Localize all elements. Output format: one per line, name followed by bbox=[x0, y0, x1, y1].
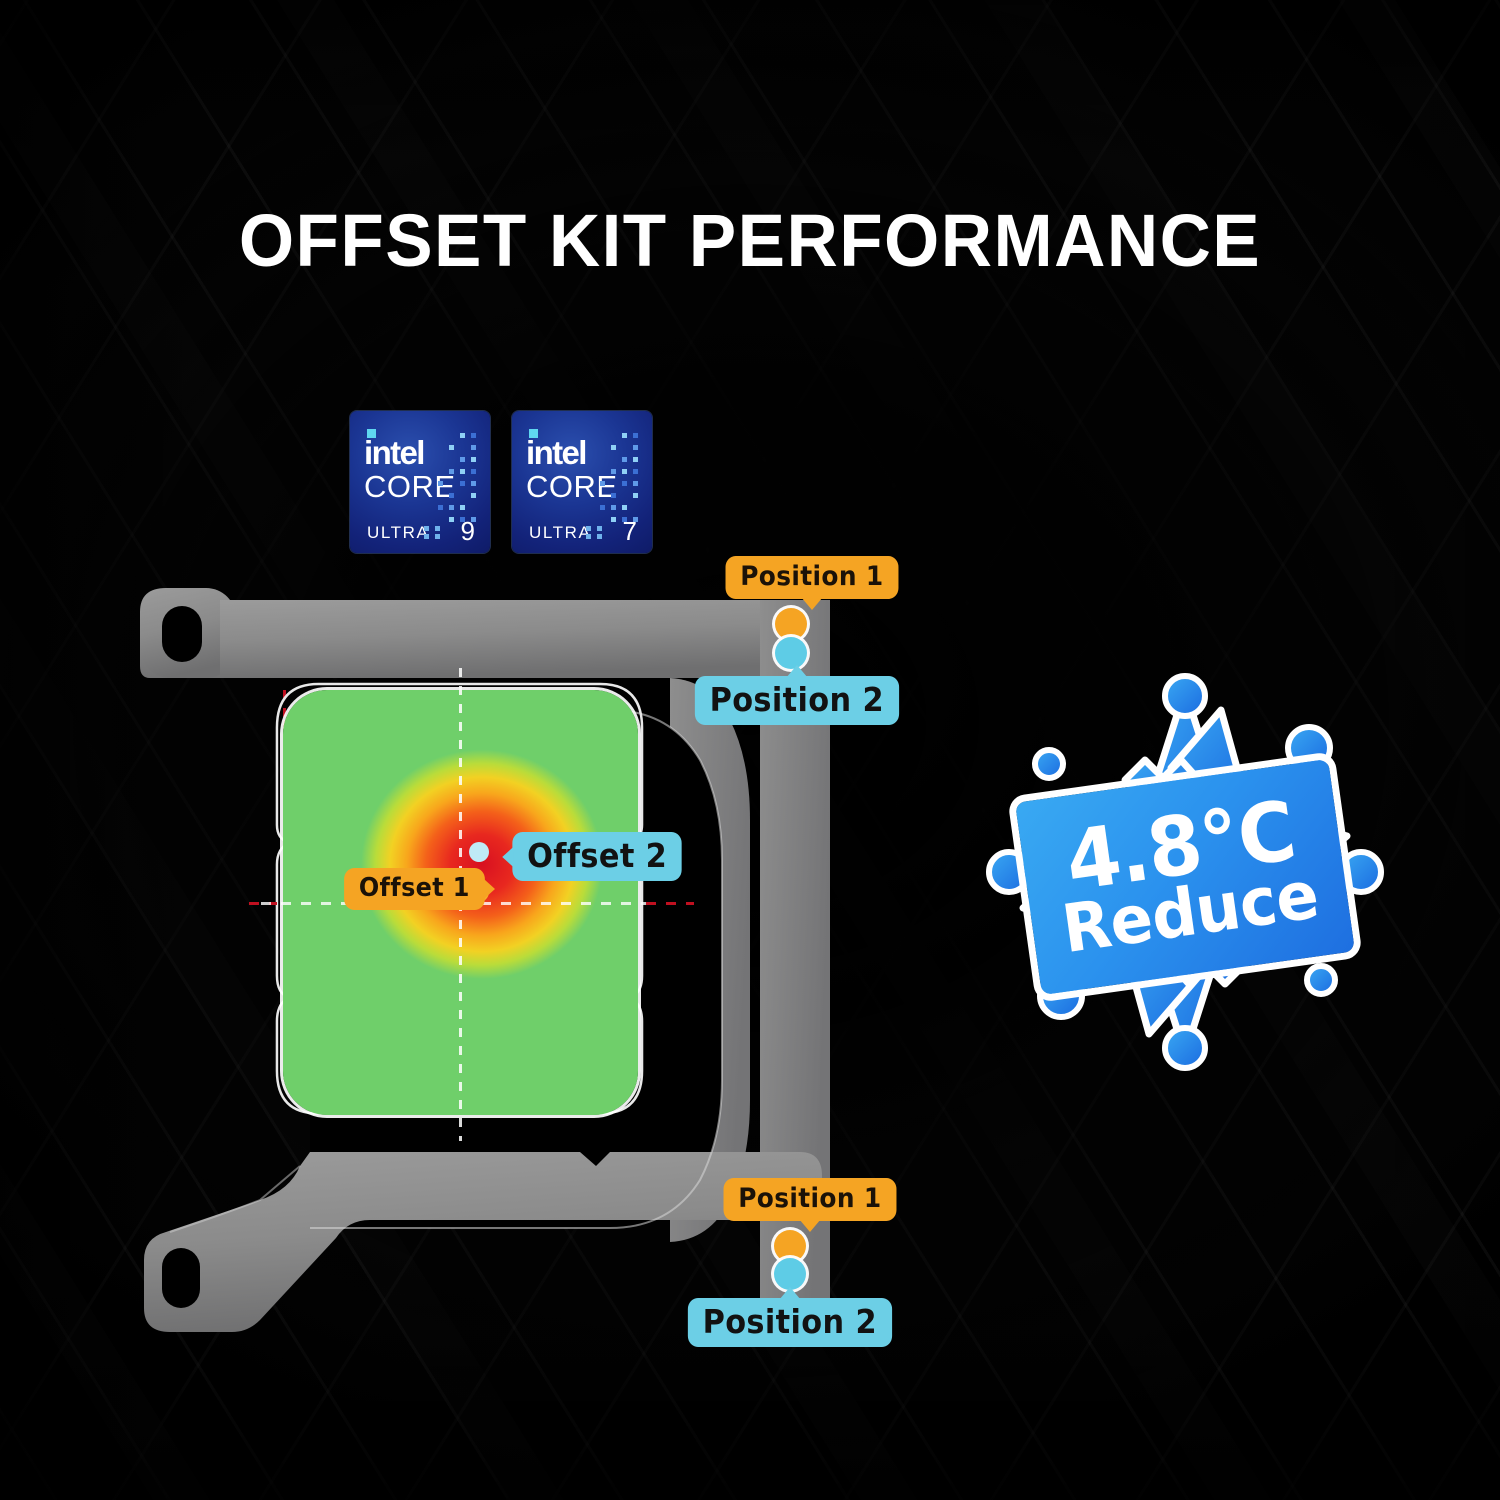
intel-badge-row: intel CORE ULTRA 9 intel CORE ULTRA 7 bbox=[350, 411, 652, 553]
callout-position-1-bottom[interactable]: Position 1 bbox=[724, 1178, 897, 1221]
page-title: OFFSET KIT PERFORMANCE bbox=[30, 198, 1470, 283]
snowflake-dot bbox=[1165, 676, 1205, 716]
crosshair-horizontal-left-red bbox=[249, 902, 277, 905]
intel-ultra-text: ULTRA bbox=[367, 524, 429, 541]
position-1-marker-top[interactable] bbox=[775, 608, 807, 640]
callout-position-2-top[interactable]: Position 2 bbox=[695, 676, 899, 725]
callout-position-2-bottom[interactable]: Position 2 bbox=[688, 1298, 892, 1347]
position-2-marker-bottom[interactable] bbox=[774, 1258, 806, 1290]
temperature-reduction-badge: 4.8°C Reduce bbox=[985, 672, 1385, 1072]
intel-wordmark: intel bbox=[364, 436, 424, 469]
product-infographic: OFFSET KIT PERFORMANCE intel CORE ULTRA … bbox=[0, 0, 1500, 1500]
intel-core-ultra-9-badge: intel CORE ULTRA 9 bbox=[350, 411, 490, 553]
intel-wordmark: intel bbox=[526, 436, 586, 469]
intel-dot-matrix bbox=[600, 433, 644, 529]
callout-offset-1[interactable]: Offset 1 bbox=[344, 868, 484, 910]
intel-core-ultra-7-badge: intel CORE ULTRA 7 bbox=[512, 411, 652, 553]
crosshair-horizontal-right-red bbox=[646, 902, 694, 905]
intel-dot-matrix bbox=[438, 433, 482, 529]
offset-2-point bbox=[469, 842, 489, 862]
intel-dot-pair bbox=[424, 526, 446, 540]
bracket-bottom-slot-hole bbox=[162, 1248, 200, 1308]
callout-position-1-top[interactable]: Position 1 bbox=[726, 556, 899, 599]
snowflake-dot bbox=[1307, 966, 1335, 994]
bracket-top-slot-hole bbox=[162, 606, 202, 662]
intel-dot-pair bbox=[586, 526, 608, 540]
snowflake-dot bbox=[1165, 1028, 1205, 1068]
intel-ultra-text: ULTRA bbox=[529, 524, 591, 541]
bracket-top-rail bbox=[220, 600, 830, 678]
callout-offset-2[interactable]: Offset 2 bbox=[512, 832, 681, 881]
snowflake-dot bbox=[1341, 852, 1381, 892]
snowflake-dot bbox=[1035, 750, 1063, 778]
